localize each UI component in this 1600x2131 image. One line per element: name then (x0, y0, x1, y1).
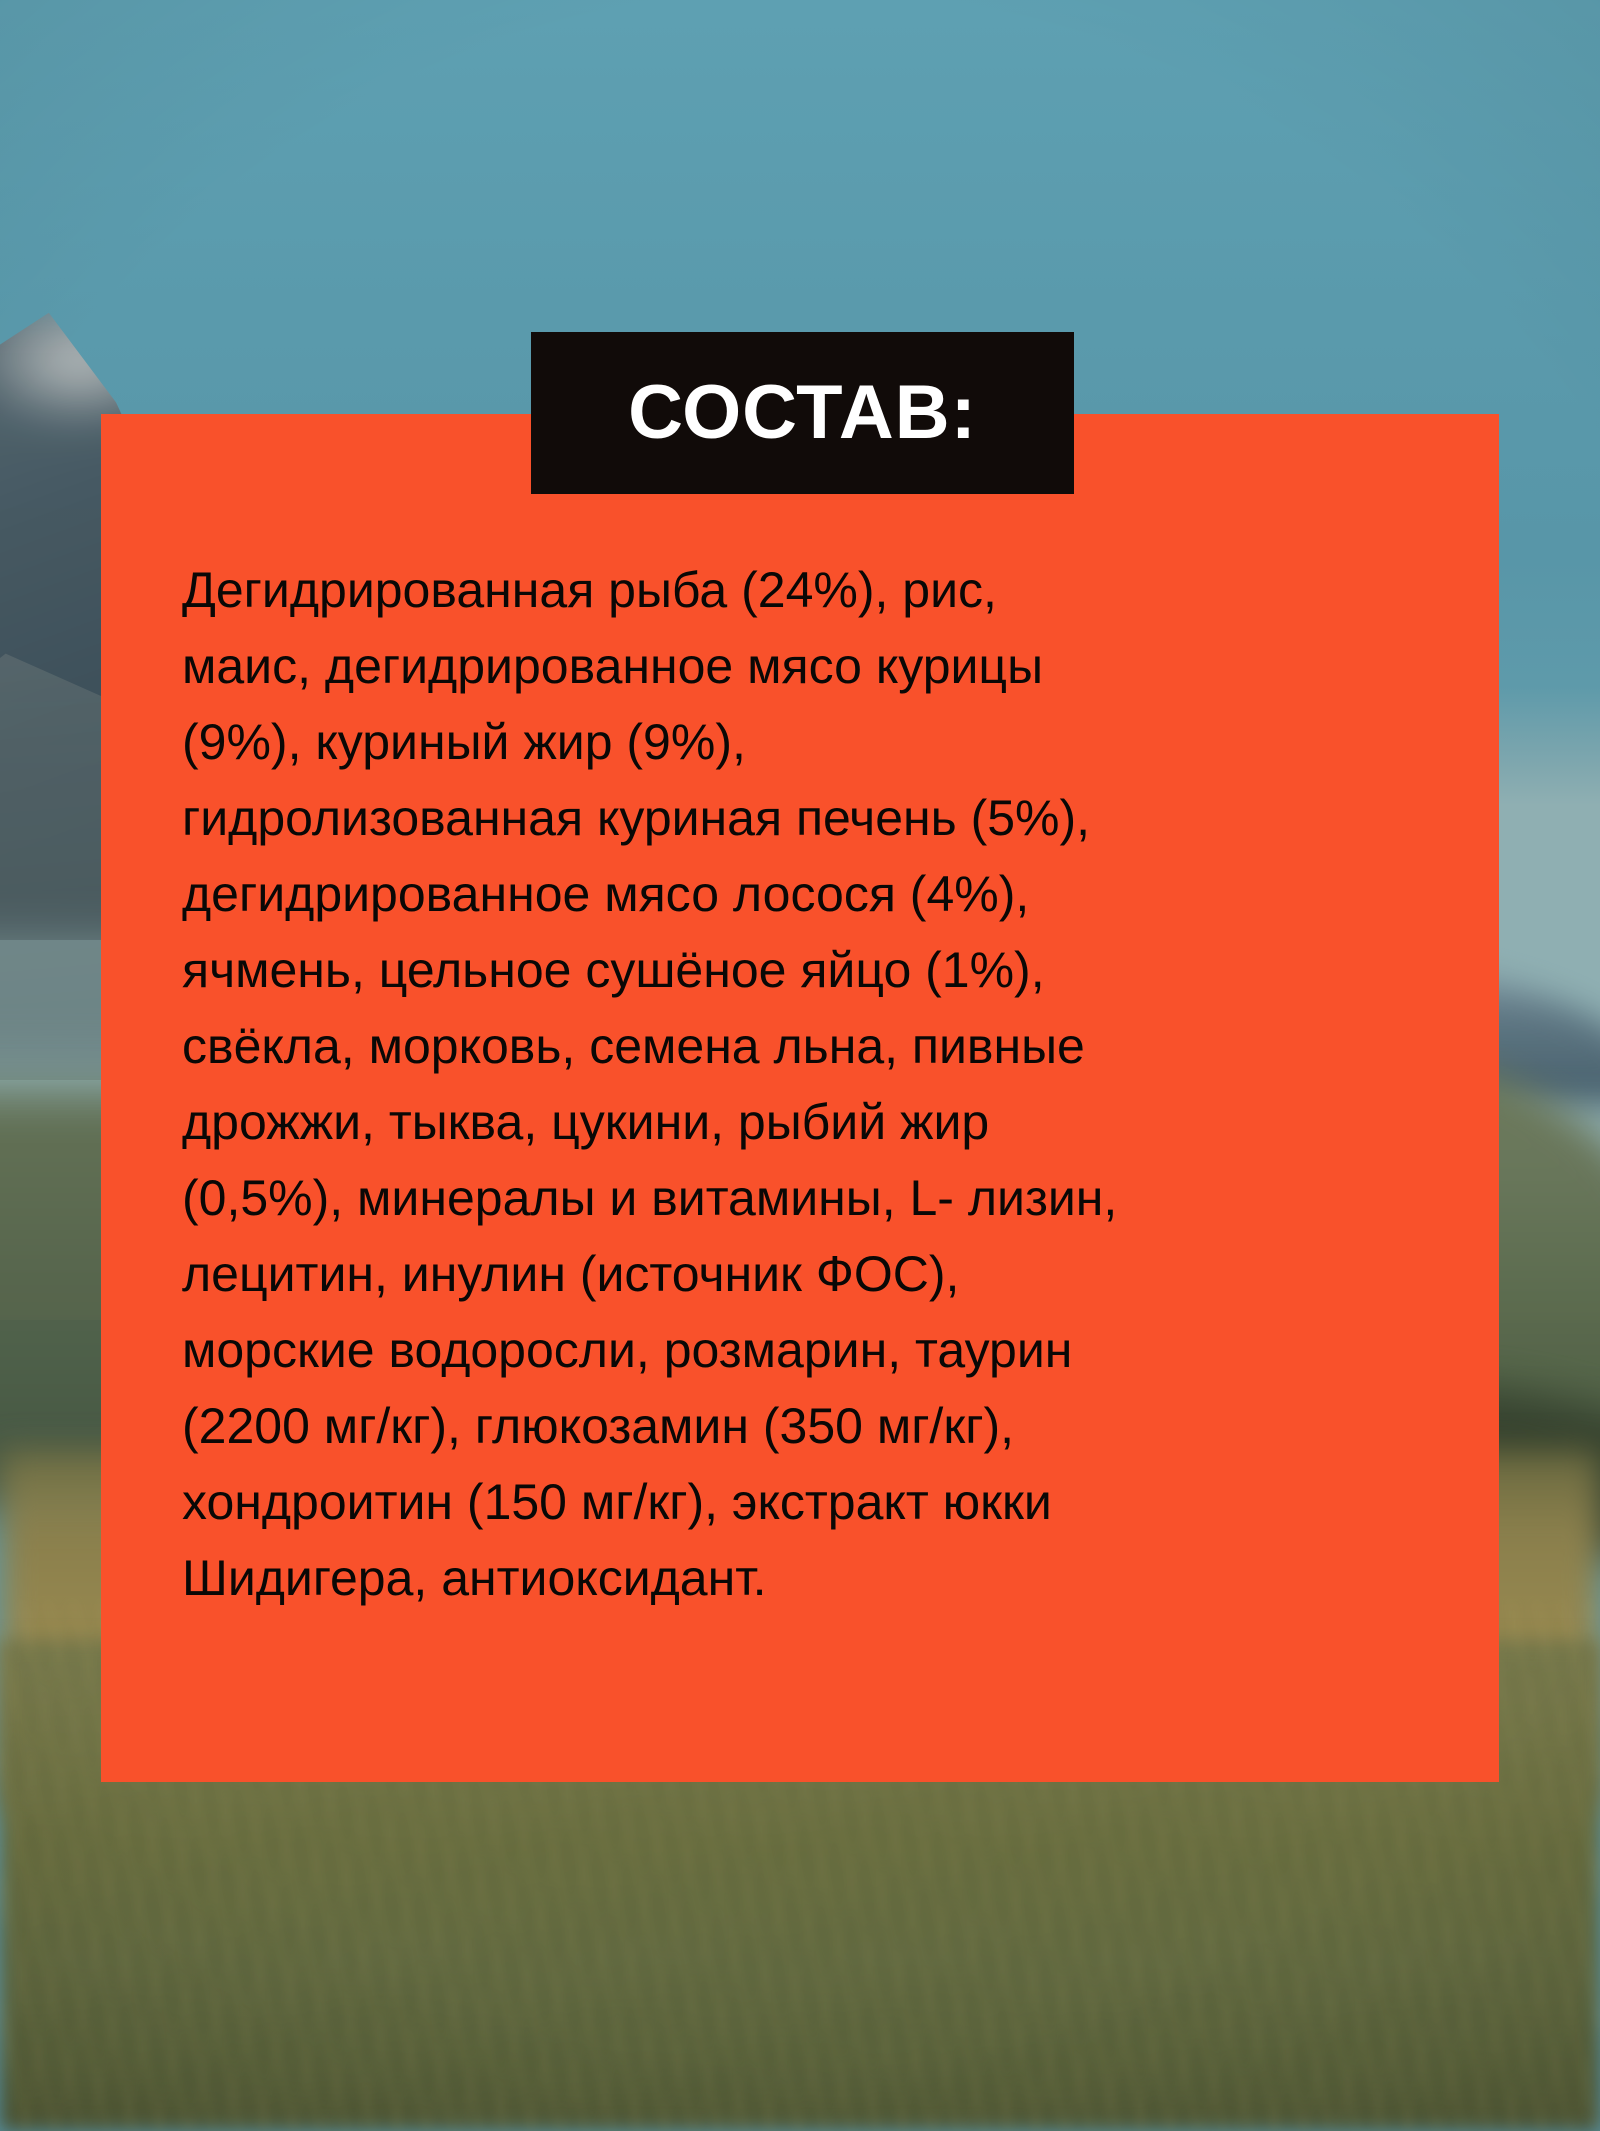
ingredients-line: хондроитин (150 мг/кг), экстракт юкки (182, 1464, 1432, 1540)
ingredients-infographic: СОСТАВ: Дегидрированная рыба (24%), рис,… (0, 0, 1600, 2131)
ingredients-line: гидролизованная куриная печень (5%), (182, 780, 1432, 856)
ingredients-line: дрожжи, тыква, цукини, рыбий жир (182, 1084, 1432, 1160)
ingredients-line: свёкла, морковь, семена льна, пивные (182, 1008, 1432, 1084)
ingredients-line: (9%), куриный жир (9%), (182, 704, 1432, 780)
page-title: СОСТАВ: (628, 375, 977, 451)
ingredients-line: (2200 мг/кг), глюкозамин (350 мг/кг), (182, 1388, 1432, 1464)
ingredients-line: дегидрированное мясо лосося (4%), (182, 856, 1432, 932)
ingredients-line: ячмень, цельное сушёное яйцо (1%), (182, 932, 1432, 1008)
ingredients-line: маис, дегидрированное мясо курицы (182, 628, 1432, 704)
ingredients-line: лецитин, инулин (источник ФОС), (182, 1236, 1432, 1312)
title-banner: СОСТАВ: (531, 332, 1074, 494)
ingredients-line: (0,5%), минералы и витамины, L- лизин, (182, 1160, 1432, 1236)
ingredients-line: Дегидрированная рыба (24%), рис, (182, 552, 1432, 628)
ingredients-text-block: Дегидрированная рыба (24%), рис, маис, д… (182, 552, 1432, 1616)
ingredients-line: Шидигера, антиоксидант. (182, 1540, 1432, 1616)
ingredients-line: морские водоросли, розмарин, таурин (182, 1312, 1432, 1388)
